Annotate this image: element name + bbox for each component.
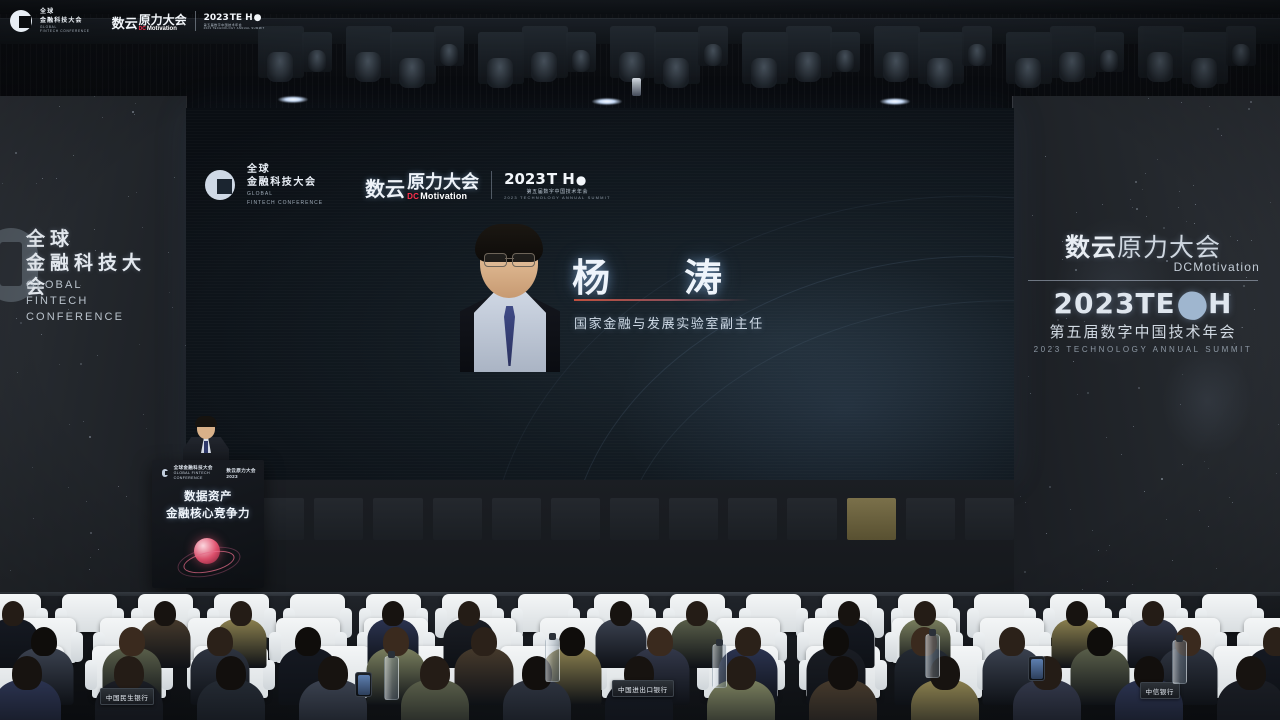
fintech-logo-icon (162, 469, 168, 477)
person-head (735, 627, 761, 656)
stage-light (830, 32, 860, 72)
person-head (559, 627, 585, 656)
stage-light (1006, 32, 1052, 84)
star-dot (1133, 426, 1134, 427)
star-dot (1135, 181, 1137, 183)
person-head (12, 656, 42, 690)
stage-light-glow (592, 98, 622, 105)
star-dot (94, 96, 95, 97)
audience-area: 中国民生银行中国进出口银行中信银行 (0, 560, 1280, 720)
star-dot (1208, 526, 1209, 527)
person-head (383, 627, 409, 656)
person-head (207, 627, 233, 656)
person-head (686, 601, 708, 626)
stage-panel (906, 498, 955, 540)
placard-label: 中信银行 (1146, 686, 1174, 696)
stage-panel-row (186, 498, 1014, 540)
star-dot (1106, 550, 1107, 551)
stage-panel (728, 498, 777, 540)
star-dot (33, 518, 34, 519)
person-head (382, 601, 404, 626)
stage-light (434, 26, 464, 66)
star-dot (83, 421, 84, 422)
person-head (1236, 656, 1266, 690)
star-dot (1181, 102, 1182, 103)
star-dot (1032, 215, 1033, 216)
led-year-block: 2023 T H ● 第五届数字中国技术年会 2023 TECHNOLOGY A… (504, 170, 611, 200)
person-head (838, 601, 860, 626)
star-dot (135, 103, 136, 104)
star-dot (86, 501, 87, 502)
star-dot (1217, 128, 1219, 130)
star-dot (1092, 530, 1093, 531)
audience-member (200, 656, 262, 720)
stage-light (522, 26, 568, 78)
fintech-logo-icon (205, 170, 235, 200)
led-event-logo: 数云 原力大会 DC Motivation (365, 168, 479, 202)
star-dot (132, 111, 134, 113)
star-dot (1221, 135, 1222, 136)
star-dot (1142, 189, 1143, 190)
person-head (458, 601, 480, 626)
stage-light (566, 32, 596, 72)
stage-light (1094, 32, 1124, 72)
star-dot (1106, 437, 1107, 438)
speaker-title: 国家金融与发展实验室副主任 (574, 313, 764, 332)
fintech-logo-icon (10, 10, 32, 32)
person-head (471, 627, 497, 656)
led-logo-lockup: 全球 金融科技大会 GLOBAL FINTECH CONFERENCE 数云 原… (205, 163, 611, 207)
smartphone (355, 672, 372, 697)
star-dot (1020, 496, 1021, 497)
star-dot (1209, 106, 1210, 107)
left-wall-brand: 全球 金融科技大会 GLOBAL FINTECH CONFERENCE (0, 222, 162, 318)
smartphone (1028, 656, 1045, 681)
audience-member (1220, 656, 1280, 720)
star-dot (90, 532, 92, 534)
star-dot (126, 496, 127, 497)
star-dot (1194, 223, 1195, 224)
star-dot (1132, 207, 1133, 208)
star-dot (169, 292, 170, 293)
right-wall-tech-cn: 第五届数字中国技术年会 (1020, 321, 1266, 342)
stage-light-glow (278, 96, 308, 103)
person-head (154, 601, 176, 626)
person-head (2, 601, 24, 626)
star-dot (98, 549, 99, 550)
star-dot (1161, 478, 1163, 480)
audience-member (0, 656, 58, 720)
person-head (31, 627, 57, 656)
right-wall-tech-title: 2023TE⬤H (1020, 287, 1266, 320)
person-head (999, 627, 1025, 656)
star-dot (1109, 545, 1110, 546)
star-dot (1179, 191, 1180, 192)
star-dot (1136, 208, 1138, 210)
right-wall-tech-en: 2023 TECHNOLOGY ANNUAL SUMMIT (1020, 345, 1266, 354)
nebula-graphic (1162, 346, 1252, 456)
eyeglasses-icon (484, 253, 535, 265)
seat-name-placard: 中国民生银行 (100, 688, 154, 705)
star-dot (17, 372, 18, 373)
person-head (647, 627, 673, 656)
stage-light (698, 26, 728, 66)
stage-light (302, 32, 332, 72)
star-dot (1121, 454, 1122, 455)
star-dot (1077, 394, 1078, 395)
star-dot (1073, 361, 1074, 362)
stage-light (258, 26, 304, 78)
stage-panel (965, 498, 1014, 540)
name-underline (574, 299, 750, 301)
stage-light (1226, 26, 1256, 66)
star-dot (1278, 424, 1279, 425)
hanging-microphone (632, 78, 641, 96)
audience-member (404, 656, 466, 720)
star-dot (36, 183, 37, 184)
star-dot (1130, 199, 1131, 200)
person-head (216, 656, 246, 690)
star-dot (15, 152, 17, 154)
star-dot (1145, 173, 1146, 174)
person-head (1066, 601, 1088, 626)
stage-panel (669, 498, 718, 540)
speaker-name: 杨 涛 (572, 247, 740, 302)
person-head (1263, 627, 1280, 656)
broadcast-watermark: 全球 金融科技大会 GLOBAL FINTECH CONFERENCE 数云 原… (10, 6, 265, 36)
podium-event-logo: 数云原力大会 2023 (226, 468, 256, 479)
star-dot (69, 424, 70, 425)
left-wall-brand-en: GLOBAL FINTECH CONFERENCE (26, 278, 162, 326)
person-head (318, 656, 348, 690)
person-head (420, 656, 450, 690)
stage-panel (314, 498, 363, 540)
phone-screen (1031, 659, 1043, 679)
water-bottle (712, 644, 727, 688)
placard-label: 中国民生银行 (106, 692, 149, 702)
audience-member (812, 656, 874, 720)
star-dot (59, 364, 60, 365)
star-dot (68, 487, 69, 488)
star-dot (1025, 502, 1026, 503)
stage-panel (787, 498, 836, 540)
stage-light (654, 32, 700, 84)
person-head (295, 627, 321, 656)
star-dot (118, 486, 119, 487)
star-dot (89, 436, 91, 438)
star-dot (1138, 387, 1140, 389)
star-dot (1276, 473, 1277, 474)
led-brand-text: 全球 金融科技大会 GLOBAL FINTECH CONFERENCE (247, 163, 323, 207)
star-dot (1144, 491, 1145, 492)
divider (491, 171, 492, 199)
stage-panel (551, 498, 600, 540)
right-wall-board: 数云原力大会 DCMotivation 2023TE⬤H 第五届数字中国技术年会… (1020, 228, 1266, 340)
star-dot (1178, 207, 1179, 208)
star-dot (42, 178, 43, 179)
star-dot (128, 196, 129, 197)
stage-light (610, 26, 656, 78)
star-dot (80, 363, 82, 365)
seat-name-placard: 中信银行 (1140, 682, 1180, 699)
person-head (726, 656, 756, 690)
stage-light (874, 26, 920, 78)
water-bottle (384, 656, 399, 700)
speaker-portrait (458, 226, 562, 372)
star-dot (1045, 156, 1046, 157)
divider (1028, 280, 1258, 281)
star-dot (90, 557, 91, 558)
person-head (114, 656, 144, 690)
stage-panel (492, 498, 541, 540)
star-dot (1030, 393, 1031, 394)
star-dot (168, 252, 169, 253)
star-dot (1204, 461, 1205, 462)
star-dot (1193, 185, 1194, 186)
star-dot (1234, 343, 1235, 344)
watermark-brand: 全球 金融科技大会 GLOBAL FINTECH CONFERENCE (40, 8, 90, 33)
live-speaker (183, 418, 229, 464)
stage-light (962, 26, 992, 66)
audience-member (914, 656, 976, 720)
star-dot (143, 414, 144, 415)
stage-light (390, 32, 436, 84)
person-head (610, 601, 632, 626)
audience-member (1016, 656, 1078, 720)
star-dot (1046, 533, 1047, 534)
water-bottle (925, 634, 940, 678)
star-dot (1229, 497, 1230, 498)
stage-panel (610, 498, 659, 540)
star-dot (1098, 550, 1099, 551)
star-dot (73, 155, 74, 156)
star-dot (56, 178, 57, 179)
star-dot (174, 177, 175, 178)
star-dot (136, 192, 137, 193)
star-dot (146, 428, 147, 429)
watermark-year-block: 2023 TE H ● 第五届数字中国技术年会 2023 TECHNOLOGY … (204, 13, 265, 30)
person-head (828, 656, 858, 690)
star-dot (32, 467, 33, 468)
star-dot (1248, 108, 1250, 110)
star-dot (1166, 519, 1167, 520)
podium-title: 数据资产 金融核心竞争力 (152, 488, 264, 521)
star-dot (20, 322, 22, 324)
water-bottle (1172, 640, 1187, 684)
seat-name-placard: 中国进出口银行 (612, 680, 674, 697)
stage-light (1050, 26, 1096, 78)
stage-light (346, 26, 392, 78)
stage-light (786, 26, 832, 78)
stage-light (742, 32, 788, 84)
stage-light (1182, 32, 1228, 84)
person-head (1087, 627, 1113, 656)
star-dot (1186, 221, 1187, 222)
person-head (119, 627, 145, 656)
star-dot (1070, 509, 1071, 510)
water-bottle (545, 638, 560, 682)
stage-light (918, 32, 964, 84)
star-dot (1208, 468, 1209, 469)
podium-logos: 全球金融科技大会 GLOBAL FINTECH CONFERENCE 数云原力大… (162, 468, 256, 478)
stage-panel (847, 498, 896, 540)
star-dot (1195, 204, 1196, 205)
right-wall-title: 数云原力大会 (1020, 228, 1266, 264)
star-dot (1199, 510, 1200, 511)
star-dot (97, 355, 98, 356)
star-dot (1076, 212, 1077, 213)
person-head (1142, 601, 1164, 626)
divider (195, 11, 196, 31)
star-dot (1049, 486, 1051, 488)
star-dot (1232, 502, 1233, 503)
star-dot (134, 114, 135, 115)
conference-hall-photo: 全球 金融科技大会 GLOBAL FINTECH CONFERENCE 数云原力… (0, 0, 1280, 720)
star-dot (16, 318, 17, 319)
star-dot (139, 344, 140, 345)
stage-panel (373, 498, 422, 540)
star-dot (1157, 159, 1158, 160)
phone-screen (358, 675, 370, 695)
star-dot (1148, 98, 1149, 99)
star-dot (1182, 464, 1183, 465)
star-dot (1102, 204, 1103, 205)
star-dot (172, 307, 173, 308)
stage-light-glow (880, 98, 910, 105)
stage-panel (433, 498, 482, 540)
star-dot (1028, 376, 1029, 377)
star-dot (2, 183, 3, 184)
person-head (823, 627, 849, 656)
star-dot (41, 334, 42, 335)
stage-light (478, 32, 524, 84)
placard-label: 中国进出口银行 (618, 684, 668, 694)
star-dot (102, 117, 103, 118)
star-dot (59, 106, 60, 107)
star-dot (1146, 216, 1147, 217)
star-dot (1087, 392, 1089, 394)
stage-light (1138, 26, 1184, 78)
person-head (914, 601, 936, 626)
star-dot (1270, 202, 1271, 203)
watermark-event-logo: 数云 原力大会 DC Motivation (112, 11, 187, 32)
star-dot (1250, 101, 1252, 103)
person-head (230, 601, 252, 626)
